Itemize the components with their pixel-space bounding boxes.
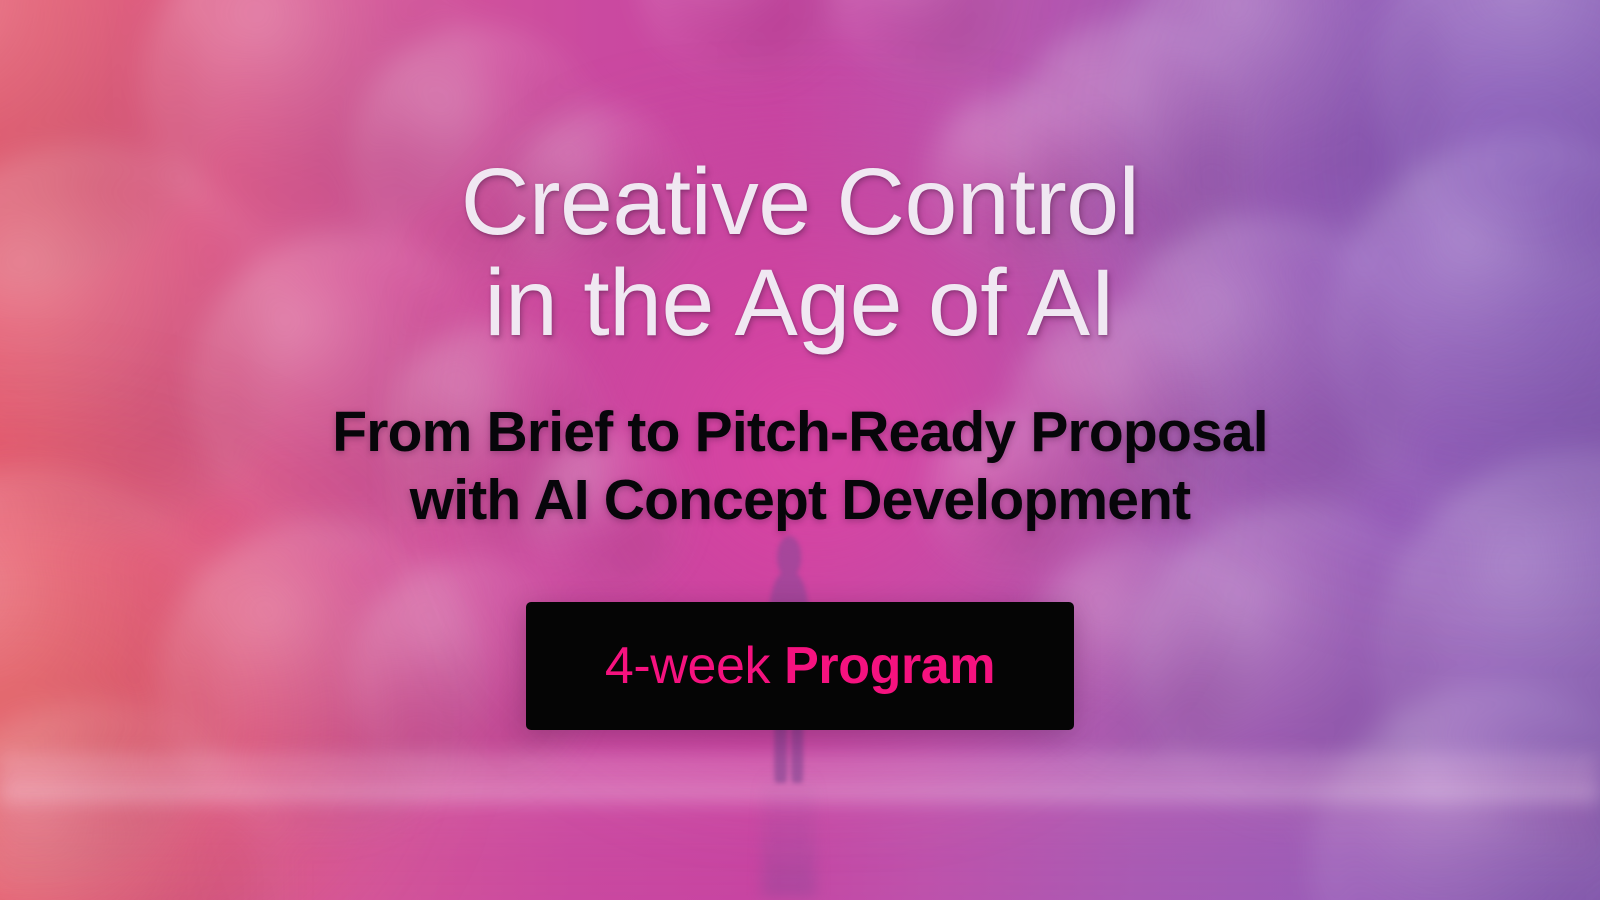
page-title: Creative Control in the Age of AI [461, 0, 1139, 353]
badge-program-label: Program [784, 637, 995, 695]
headline-line-2: in the Age of AI [461, 253, 1139, 354]
page-subtitle: From Brief to Pitch-Ready Proposal with … [332, 353, 1268, 534]
banner-content: Creative Control in the Age of AI From B… [0, 0, 1600, 900]
badge-text: 4-weekProgram [605, 640, 995, 692]
promo-banner: Creative Control in the Age of AI From B… [0, 0, 1600, 900]
subheadline-line-1: From Brief to Pitch-Ready Proposal [332, 399, 1268, 466]
program-duration-badge: 4-weekProgram [526, 602, 1074, 730]
subheadline-line-2: with AI Concept Development [332, 467, 1268, 534]
badge-duration-label: 4-week [605, 637, 770, 695]
headline-line-1: Creative Control [461, 152, 1139, 253]
